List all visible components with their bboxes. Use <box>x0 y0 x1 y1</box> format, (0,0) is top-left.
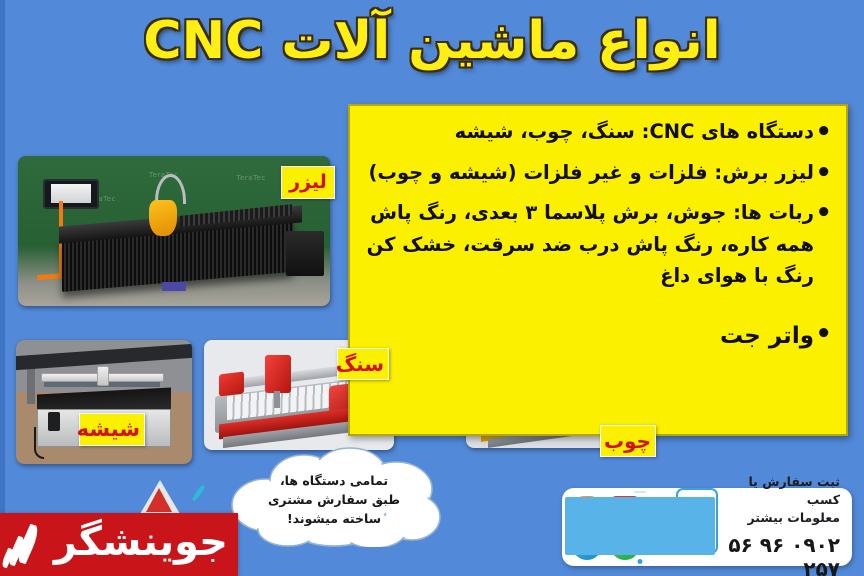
spec-item-label: دستگاه های CNC: سنگ، چوب، شیشه <box>360 116 814 148</box>
speech-bubble: تمامی دستگاه ها، طبق سفارش مشتری ساخته م… <box>226 447 442 547</box>
speech-bubble-text: تمامی دستگاه ها، طبق سفارش مشتری ساخته م… <box>226 447 442 547</box>
specs-panel: • دستگاه های CNC: سنگ، چوب، شیشه • لیزر … <box>348 104 848 436</box>
photo-watermark: TeraTec <box>236 174 265 182</box>
machine-carriage <box>97 366 109 386</box>
bubble-line-3: ساخته میشوند! <box>287 509 381 528</box>
phone-speaker <box>634 491 646 493</box>
phone-number[interactable]: ۰۹۰۲ ۹۶ ۵۶ ۲۵۷ <box>722 533 840 576</box>
smartphone-icon[interactable] <box>676 488 718 554</box>
contact-headline-line-2: معلومات بیشتر <box>722 509 840 527</box>
spec-item-label: ربات ها: جوش، برش پلاسما ۳ بعدی، رنگ پاش… <box>360 197 814 292</box>
machine-z-axis <box>265 355 292 392</box>
bullet-icon: • <box>816 318 832 351</box>
spec-item: • واتر جت <box>360 318 832 355</box>
contact-headline-line-1: ثبت سفارش یا کسب <box>722 473 840 509</box>
tag-stone: سنگ <box>337 348 389 380</box>
logo-triangle-inner <box>146 488 172 512</box>
page-title: انواع ماشین آلات CNC <box>0 14 864 69</box>
control-pendant <box>48 412 60 431</box>
logo-swoosh <box>192 484 205 502</box>
machine-spindle <box>274 391 280 409</box>
laser-head <box>149 200 177 236</box>
poster-canvas: انواع ماشین آلات CNC TeraTec TeraTec Ter… <box>0 0 864 576</box>
spec-item: • لیزر برش: فلزات و غیر فلزات (شیشه و چو… <box>360 157 832 190</box>
tag-wood: چوب <box>600 425 656 457</box>
contact-card[interactable]: ثبت سفارش یا کسب معلومات بیشتر ۰۹۰۲ ۹۶ ۵… <box>562 488 852 566</box>
bubble-line-2: طبق سفارش مشتری <box>268 490 400 509</box>
spec-item: • ربات ها: جوش، برش پلاسما ۳ بعدی، رنگ پ… <box>360 197 832 292</box>
spec-item-label: واتر جت <box>360 318 814 355</box>
bullet-icon: • <box>816 116 832 149</box>
contact-headline: ثبت سفارش یا کسب معلومات بیشتر <box>722 473 840 527</box>
power-cable <box>34 427 45 459</box>
contact-text-block: ثبت سفارش یا کسب معلومات بیشتر ۰۹۰۲ ۹۶ ۵… <box>718 473 852 576</box>
bullet-icon: • <box>816 197 832 230</box>
machine-side-cover-left <box>219 371 244 396</box>
phone-home-button <box>638 559 643 564</box>
control-cabinet <box>286 231 323 276</box>
machine-monitor <box>43 179 99 209</box>
brand-name: جوینشگر <box>46 522 238 568</box>
brand-logo-icon <box>2 522 46 568</box>
messaging-app-icons: e <box>562 488 718 566</box>
bullet-icon: • <box>816 157 832 190</box>
spec-item: • دستگاه های CNC: سنگ، چوب، شیشه <box>360 116 832 149</box>
tag-laser: لیزر <box>281 166 335 199</box>
spec-item-label: لیزر برش: فلزات و غیر فلزات (شیشه و چوب) <box>360 157 814 189</box>
tag-glass: شیشه <box>79 413 145 446</box>
bubble-line-1: تمامی دستگاه ها، <box>280 471 388 490</box>
brand-bar: جوینشگر <box>0 513 238 576</box>
name-plate <box>162 282 187 291</box>
phone-screen <box>565 497 715 555</box>
